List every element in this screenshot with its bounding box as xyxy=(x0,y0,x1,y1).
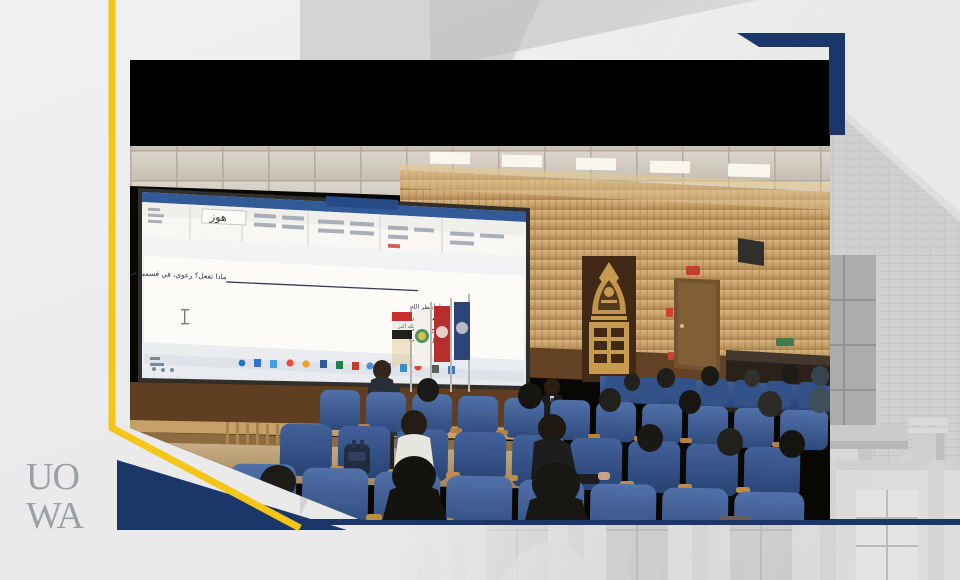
poster-canvas: هوز xyxy=(0,0,960,580)
logo-line-1: UO xyxy=(26,458,110,496)
photo-image: هوز xyxy=(130,60,830,520)
navy-triangle xyxy=(117,460,347,530)
logo-line-2: WA xyxy=(26,497,110,535)
uowa-logo: UO WA xyxy=(26,458,110,534)
lecture-hall-photo: هوز xyxy=(130,60,830,520)
navy-corner-bracket xyxy=(737,33,845,135)
